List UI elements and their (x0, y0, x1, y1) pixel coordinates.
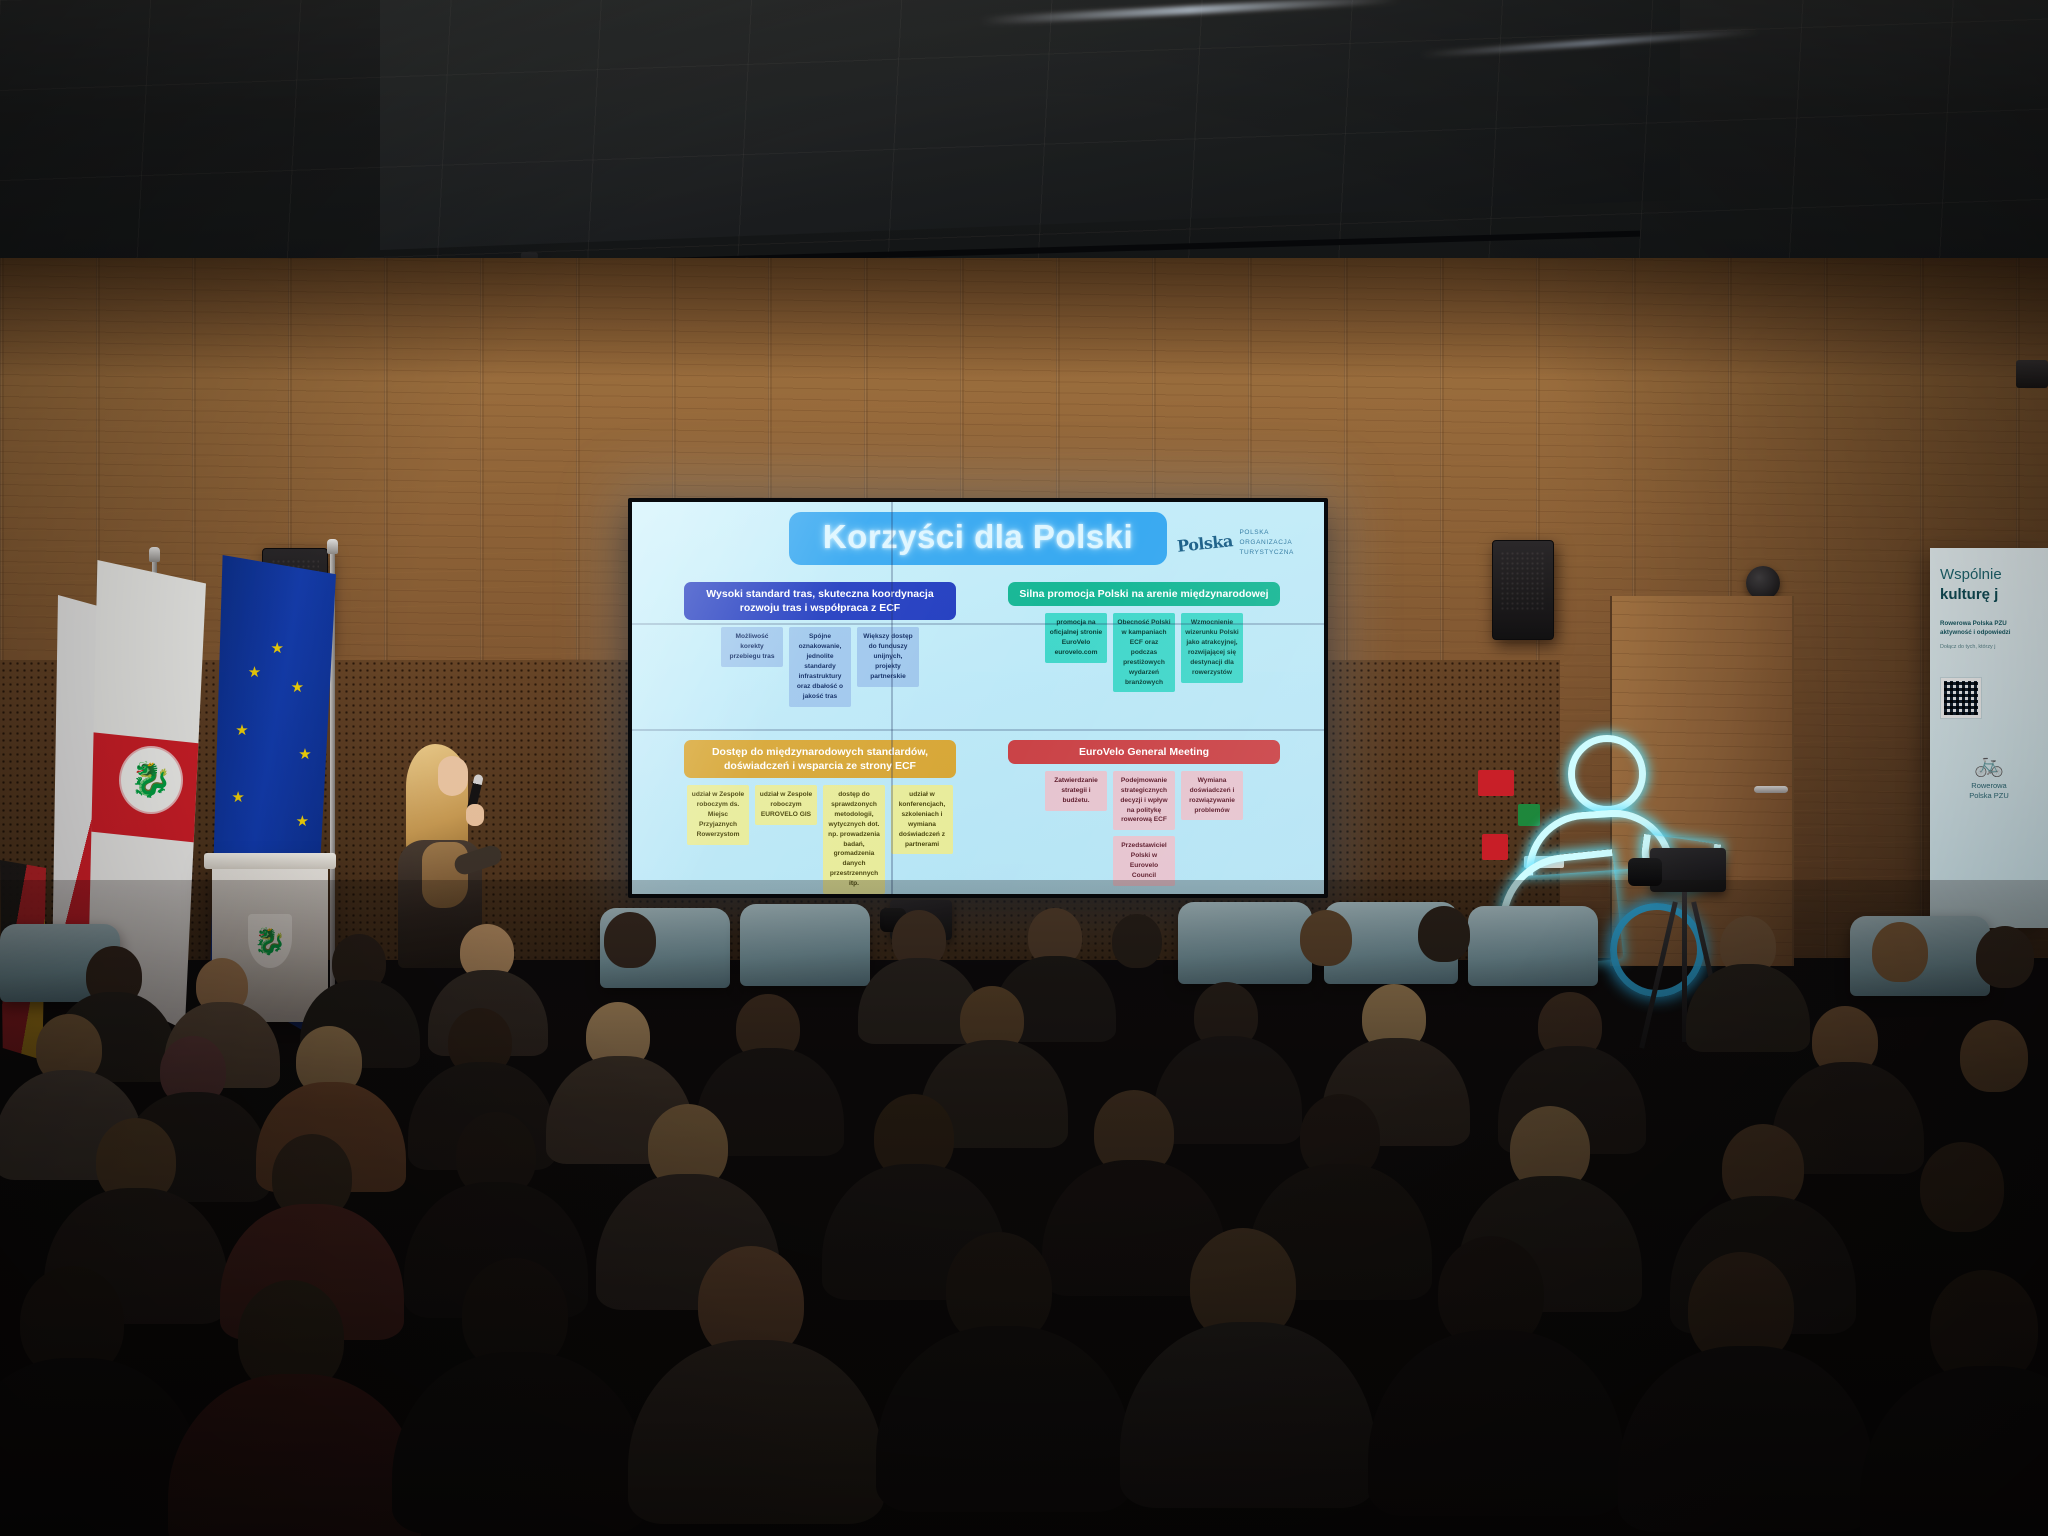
flag-pole-finial (149, 547, 160, 562)
slide-box: Obecność Polski w kampaniach ECF oraz po… (1113, 613, 1175, 692)
presenter-face (438, 756, 468, 796)
griffin-icon: 🐉 (130, 763, 172, 797)
quadrant-header-q2: Silna promocja Polski na arenie międzyna… (1008, 582, 1279, 606)
quadrant-boxes-q1: Możliwość korekty przebiegu tras Spójne … (666, 627, 974, 706)
qr-code-pattern (1944, 681, 1978, 715)
sponsor-banner: Wspólnie kulturę j Rowerowa Polska PZU a… (1930, 548, 2048, 928)
banner-bodytext: Dołącz do tych, którzy j (1940, 643, 2038, 651)
slide-box: Podejmowanie strategicznych decyzji i wp… (1113, 771, 1175, 830)
qr-code[interactable] (1940, 677, 1982, 719)
slide-canvas: Korzyści dla Polski Polska POLSKA ORGANI… (632, 502, 1324, 894)
slide-box: udział w Zespole roboczym ds. Miejsc Prz… (687, 785, 749, 844)
slide-box: Wzmocnienie wizerunku Polski jako atrakc… (1181, 613, 1243, 682)
slide-box-stack: Podejmowanie strategicznych decyzji i wp… (1113, 771, 1175, 886)
slide-box: Zatwierdzanie strategii i budżetu. (1045, 771, 1107, 811)
pot-logo: Polska POLSKA ORGANIZACJA TURYSTYCZNA (1177, 528, 1294, 558)
banner-bike-label-line2: Polska PZU (1969, 791, 2009, 800)
quadrant-boxes-q4: Zatwierdzanie strategii i budżetu. Podej… (990, 771, 1298, 886)
quadrant-header-q1: Wysoki standard tras, skuteczna koordyna… (684, 582, 955, 620)
eu-star-icon: ★ (296, 814, 309, 829)
slide-box: udział w Zespole roboczym EUROVELO GIS (755, 785, 817, 825)
banner-subtext: Rowerowa Polska PZU aktywność i odpowied… (1940, 619, 2038, 638)
presenter-hand (466, 804, 484, 826)
ceiling-panel-grid (0, 0, 2048, 300)
banner-bike-label: Rowerowa Polska PZU (1940, 781, 2038, 801)
slide-box: Możliwość korekty przebiegu tras (721, 627, 783, 667)
projection-screen: Korzyści dla Polski Polska POLSKA ORGANI… (628, 498, 1328, 898)
wall-speaker (2016, 360, 2048, 388)
eu-star-icon: ★ (235, 723, 248, 738)
flag-pole-finial (327, 539, 338, 554)
flag-emblem-disc: 🐉 (121, 748, 181, 812)
slide-box: Przedstawiciel Polski w Eurovelo Council (1113, 836, 1175, 886)
slide-box: udział w konferencjach, szkoleniach i wy… (891, 785, 953, 854)
wall-speaker (1492, 540, 1554, 640)
slide-title: Korzyści dla Polski (789, 512, 1167, 565)
pot-logo-text: POLSKA ORGANIZACJA TURYSTYCZNA (1239, 528, 1294, 558)
slide-box: Spójne oznakowanie, jednolite standardy … (789, 627, 851, 706)
quadrant-boxes-q2: promocja na oficjalnej stronie EuroVelo … (990, 613, 1298, 692)
pot-org-line3: TURYSTYCZNA (1239, 549, 1294, 556)
pot-org-line1: POLSKA (1239, 529, 1269, 536)
banner-bike-label-line1: Rowerowa (1971, 781, 2006, 790)
banner-heading-line2: kulturę j (1940, 586, 2038, 605)
lectern-top (204, 853, 336, 869)
banner-heading-line1: Wspólnie (1940, 566, 2038, 585)
slide-box: Większy dostęp do funduszy unijnych, pro… (857, 627, 919, 686)
ceiling (0, 0, 2048, 300)
audience (0, 880, 2048, 1536)
slide-quadrant-q2: Silna promocja Polski na arenie międzyna… (982, 578, 1306, 736)
slide-quadrant-grid: Wysoki standard tras, skuteczna koordyna… (658, 578, 1306, 894)
pot-logo-mark: Polska (1176, 531, 1233, 556)
slide-box: promocja na oficjalnej stronie EuroVelo … (1045, 613, 1107, 663)
slide-quadrant-q3: Dostęp do międzynarodowych standardów, d… (658, 736, 982, 894)
conference-photo: Korzyści dla Polski Polska POLSKA ORGANI… (0, 0, 2048, 1536)
eu-star-icon: ★ (248, 665, 261, 680)
eu-star-icon: ★ (298, 747, 311, 762)
slide-box: Wymiana doświadczeń i rozwiązywanie prob… (1181, 771, 1243, 821)
pot-org-line2: ORGANIZACJA (1239, 539, 1292, 546)
door-handle[interactable] (1754, 786, 1788, 793)
quadrant-header-q3: Dostęp do międzynarodowych standardów, d… (684, 740, 955, 778)
security-camera-dome (1746, 566, 1780, 600)
eu-star-icon: ★ (231, 790, 244, 805)
slide-quadrant-q4: EuroVelo General Meeting Zatwierdzanie s… (982, 736, 1306, 894)
neon-head (1568, 735, 1646, 813)
eu-star-icon: ★ (291, 680, 304, 695)
slide-box: dostęp do sprawdzonych metodologii, wyty… (823, 785, 885, 894)
eu-star-icon: ★ (270, 641, 283, 656)
quadrant-boxes-q3: udział w Zespole roboczym ds. Miejsc Prz… (666, 785, 974, 894)
audience-shading (0, 880, 2048, 1536)
bicycle-icon: 🚲 (1940, 753, 2038, 777)
quadrant-header-q4: EuroVelo General Meeting (1008, 740, 1279, 764)
slide-quadrant-q1: Wysoki standard tras, skuteczna koordyna… (658, 578, 982, 736)
